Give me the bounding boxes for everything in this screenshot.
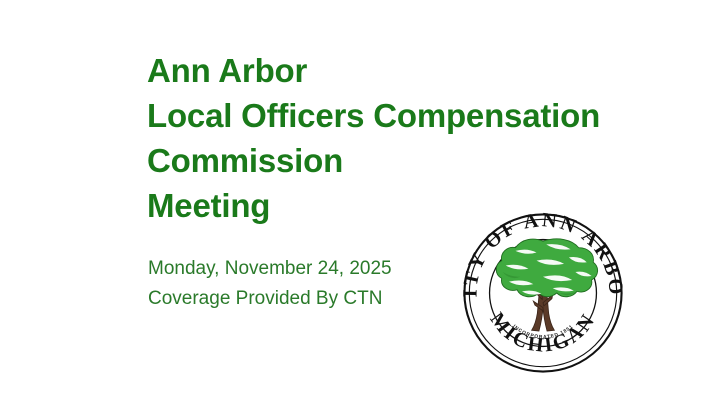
title-line-1: Ann Arbor — [147, 48, 719, 93]
meeting-date: Monday, November 24, 2025 — [148, 254, 478, 284]
title-line-3: Commission — [147, 138, 719, 183]
city-seal-logo: CITY OF ANN ARBOR MICHIGAN FOUNDED 1824 … — [462, 212, 624, 374]
title-line-2: Local Officers Compensation — [147, 93, 719, 138]
coverage-credit: Coverage Provided By CTN — [148, 284, 478, 314]
slide-subtitle: Monday, November 24, 2025 Coverage Provi… — [148, 254, 478, 314]
slide-title: Ann Arbor Local Officers Compensation Co… — [147, 48, 719, 228]
seal-text-michigan: MICHIGAN — [485, 309, 600, 357]
title-line-4: Meeting — [147, 183, 719, 228]
title-slide: Ann Arbor Local Officers Compensation Co… — [0, 0, 720, 405]
svg-text:MICHIGAN: MICHIGAN — [485, 309, 600, 357]
tree-foliage — [496, 239, 597, 297]
